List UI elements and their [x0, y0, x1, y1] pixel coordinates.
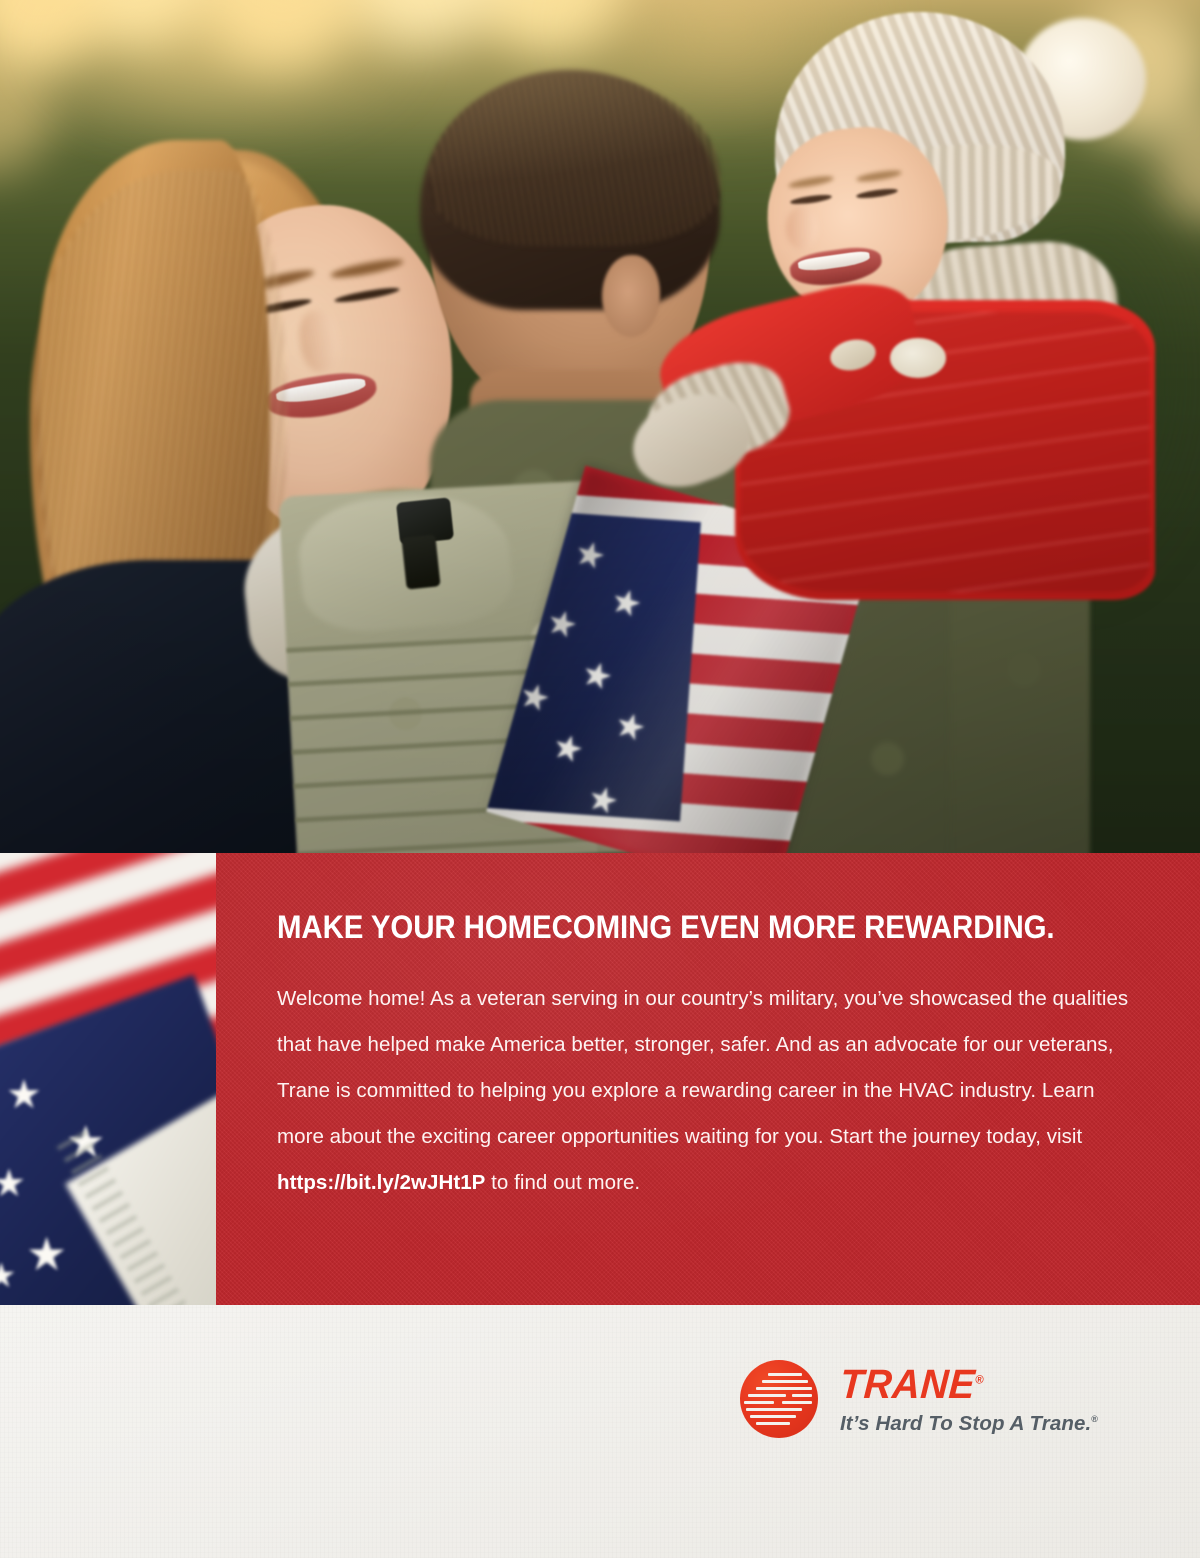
flag-strip-star: ★	[26, 1231, 67, 1277]
trane-tagline-text: It’s Hard To Stop A Trane.	[840, 1412, 1091, 1435]
flag-side-photo: ★ ★ ★ ★ ★	[0, 853, 216, 1305]
vest-buckle-lower	[401, 534, 440, 589]
trane-circle-airflow-icon	[740, 1360, 818, 1438]
airflow-line	[746, 1408, 802, 1411]
hero-photo: ★ ★ ★ ★ ★ ★ ★ ★	[0, 0, 1200, 855]
airflow-line	[768, 1373, 802, 1376]
trane-wordmark-text: TRANE	[839, 1361, 977, 1407]
flag-strip-star: ★	[6, 1075, 42, 1115]
red-copy-panel: MAKE YOUR HOMECOMING EVEN MORE REWARDING…	[216, 853, 1200, 1305]
airflow-line	[748, 1394, 786, 1397]
trane-logo[interactable]: TRANE® It’s Hard To Stop A Trane.®	[740, 1358, 1050, 1468]
advertisement-page: ★ ★ ★ ★ ★ ★ ★ ★ ★	[0, 0, 1200, 1558]
soldier-ear	[602, 255, 660, 337]
child-nose	[786, 206, 818, 250]
headline: MAKE YOUR HOMECOMING EVEN MORE REWARDING…	[277, 909, 1077, 946]
body-copy-part2: to find out more.	[485, 1171, 640, 1194]
logo-red-disc	[740, 1360, 818, 1438]
airflow-line	[792, 1394, 812, 1397]
trane-wordmark: TRANE®	[839, 1364, 985, 1405]
body-copy: Welcome home! As a veteran serving in ou…	[277, 976, 1147, 1206]
airflow-line	[756, 1422, 790, 1425]
footer: TRANE® It’s Hard To Stop A Trane.®	[0, 1305, 1200, 1558]
airflow-line	[744, 1401, 774, 1404]
airflow-line	[756, 1387, 812, 1390]
flag-strip-star: ★	[0, 1259, 16, 1293]
tagline-registered-mark: ®	[1091, 1414, 1098, 1424]
airflow-line	[782, 1401, 812, 1404]
copy-block: MAKE YOUR HOMECOMING EVEN MORE REWARDING…	[277, 909, 1147, 1206]
body-copy-part1: Welcome home! As a veteran serving in ou…	[277, 987, 1128, 1148]
cta-url[interactable]: https://bit.ly/2wJHt1P	[277, 1171, 485, 1194]
airflow-line	[750, 1415, 796, 1418]
jacket-toggle-button	[890, 338, 946, 378]
airflow-line	[762, 1380, 808, 1383]
trane-tagline: It’s Hard To Stop A Trane.®	[840, 1414, 1098, 1435]
flag-strip-star: ★	[0, 1165, 26, 1203]
registered-mark: ®	[975, 1372, 984, 1386]
